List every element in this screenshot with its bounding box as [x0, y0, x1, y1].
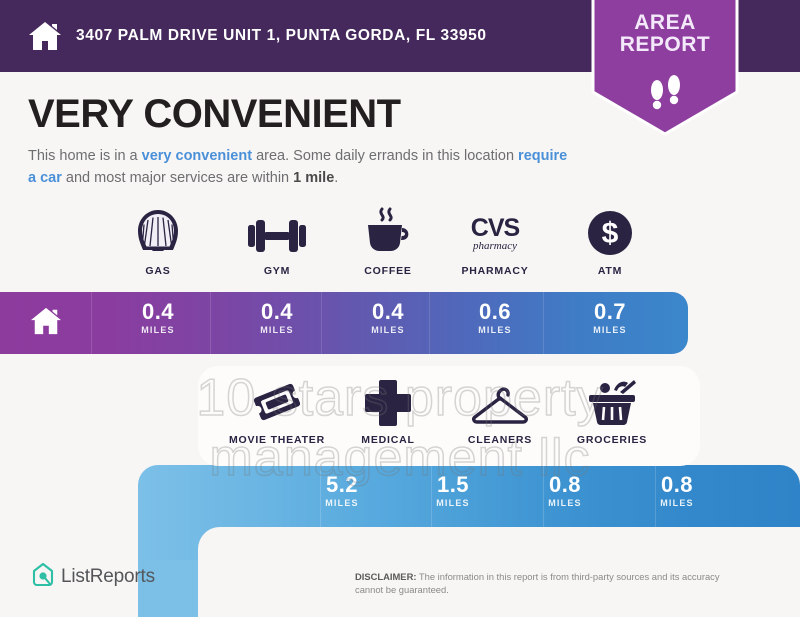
amenity-icons-row-2: MOVIE THEATER MEDICAL CLEANERS	[0, 374, 800, 459]
amenity-groceries: GROCERIES	[547, 374, 677, 446]
area-report-infographic: 3407 PALM DRIVE UNIT 1, PUNTA GORDA, FL …	[0, 0, 800, 617]
desc-highlight-1: very convenient	[142, 148, 252, 164]
distance-number: 0.4	[93, 300, 223, 324]
distance-unit: MILES	[500, 498, 630, 508]
amenity-cleaners: CLEANERS	[435, 374, 565, 446]
grocery-basket-icon	[547, 374, 677, 426]
distance-value-pharmacy: 0.6 MILES	[430, 300, 560, 335]
listreports-logo: ListReports	[32, 562, 155, 591]
amenity-medical: MEDICAL	[323, 374, 453, 446]
disclaimer: DISCLAIMER: The information in this repo…	[355, 570, 735, 596]
disclaimer-label: DISCLAIMER:	[355, 571, 416, 582]
desc-bold-1: 1 mile	[293, 170, 334, 186]
amenity-label: GROCERIES	[547, 434, 677, 446]
footprints-icon	[647, 74, 687, 116]
cvs-logo-icon: CVS pharmacy	[430, 205, 560, 257]
svg-text:pharmacy: pharmacy	[472, 240, 517, 252]
badge-text: AREA REPORT	[585, 12, 745, 56]
distance-number: 0.6	[430, 300, 560, 324]
amenity-label: ATM	[545, 265, 675, 277]
distance-unit: MILES	[388, 498, 518, 508]
amenity-atm: $ ATM	[545, 205, 675, 277]
distance-unit: MILES	[545, 325, 675, 335]
home-icon	[28, 20, 62, 52]
amenity-label: PHARMACY	[430, 265, 560, 277]
dollar-coin-icon: $	[545, 205, 675, 257]
shell-gas-icon	[93, 205, 223, 257]
badge-line-1: AREA	[585, 12, 745, 34]
desc-part-4: .	[334, 170, 338, 186]
desc-part-1: This home is in a	[28, 148, 142, 164]
distance-bar-row-1: 0.4 MILES 0.4 MILES 0.4 MILES 0.6 MILES …	[0, 292, 688, 354]
distance-number: 0.7	[545, 300, 675, 324]
header-address-group: 3407 PALM DRIVE UNIT 1, PUNTA GORDA, FL …	[28, 0, 487, 72]
amenity-label: MEDICAL	[323, 434, 453, 446]
distance-value-groceries: 0.8 MILES	[612, 473, 742, 508]
listreports-house-icon	[32, 562, 54, 591]
amenity-gas: GAS	[93, 205, 223, 277]
svg-text:CVS: CVS	[471, 214, 520, 242]
badge-line-2: REPORT	[585, 34, 745, 56]
distance-value-gas: 0.4 MILES	[93, 300, 223, 335]
desc-part-2: area. Some daily errands in this locatio…	[252, 148, 518, 164]
amenity-icons-row-1: GAS GYM	[0, 205, 800, 290]
area-report-badge: AREA REPORT	[585, 0, 745, 140]
distance-number: 1.5	[388, 473, 518, 497]
distance-unit: MILES	[612, 498, 742, 508]
distance-number: 0.8	[612, 473, 742, 497]
desc-part-3: and most major services are within	[62, 170, 293, 186]
distance-unit: MILES	[430, 325, 560, 335]
amenity-label: CLEANERS	[435, 434, 565, 446]
distance-unit: MILES	[93, 325, 223, 335]
amenity-label: GAS	[93, 265, 223, 277]
amenity-pharmacy: CVS pharmacy PHARMACY	[430, 205, 560, 277]
distance-number: 0.8	[500, 473, 630, 497]
svg-text:$: $	[602, 217, 619, 250]
distance-value-cleaners: 0.8 MILES	[500, 473, 630, 508]
distance-value-atm: 0.7 MILES	[545, 300, 675, 335]
distance-value-medical: 1.5 MILES	[388, 473, 518, 508]
medical-cross-icon	[323, 374, 453, 426]
page-description: This home is in a very convenient area. …	[28, 145, 573, 189]
page-title: VERY CONVENIENT	[28, 92, 401, 137]
property-address: 3407 PALM DRIVE UNIT 1, PUNTA GORDA, FL …	[76, 27, 487, 45]
clothes-hanger-icon	[435, 374, 565, 426]
listreports-logo-text: ListReports	[61, 566, 155, 588]
